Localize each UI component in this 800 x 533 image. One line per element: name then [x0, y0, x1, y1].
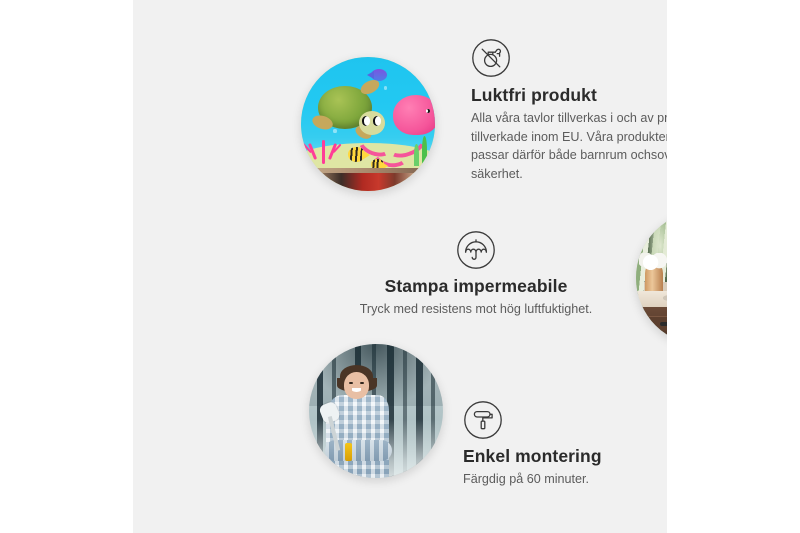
feature-body: Tryck med resistens mot hög luftfuktighe… — [345, 300, 607, 319]
photo-bathroom-wallpaper — [636, 211, 667, 345]
promo-graphic: Luktfri produkt Alla våra tavlor tillver… — [0, 0, 800, 533]
paint-roller-icon — [463, 400, 503, 440]
person-eye — [349, 382, 353, 384]
seaweed — [422, 136, 427, 165]
feature-title: Enkel montering — [463, 446, 667, 467]
photo-kids-underwater — [301, 57, 435, 191]
feature-title: Luktfri produkt — [471, 85, 667, 106]
no-fragrance-icon — [471, 38, 511, 78]
feature-title: Stampa impermeabile — [345, 276, 607, 297]
person-face — [344, 372, 369, 399]
hand-tool — [345, 443, 352, 460]
flowers — [639, 253, 667, 270]
drawer-handle — [660, 322, 667, 325]
person-eye — [360, 382, 364, 384]
feature-body: Färgdig på 60 minuter. — [463, 470, 667, 489]
room-strip — [301, 168, 435, 191]
feature-body: Alla våra tavlor tillverkas i och av pro… — [471, 109, 667, 183]
striped-fish-icon — [348, 147, 365, 162]
octopus-eye — [426, 109, 430, 113]
umbrella-icon — [456, 230, 496, 270]
coral — [306, 129, 341, 164]
kids-underwater-artwork — [301, 57, 435, 191]
seaweed — [414, 144, 419, 165]
installer-artwork — [309, 344, 443, 478]
countertop — [636, 291, 667, 308]
photo-installer-forest — [309, 344, 443, 478]
feature-odourless: Luktfri produkt Alla våra tavlor tillver… — [471, 38, 667, 183]
feature-easy-install: Enkel montering Färgdig på 60 minuter. — [463, 400, 667, 489]
bathroom-artwork — [636, 211, 667, 345]
feature-waterproof: Stampa impermeabile Tryck med resistens … — [345, 230, 607, 319]
content-panel: Luktfri produkt Alla våra tavlor tillver… — [133, 0, 667, 533]
